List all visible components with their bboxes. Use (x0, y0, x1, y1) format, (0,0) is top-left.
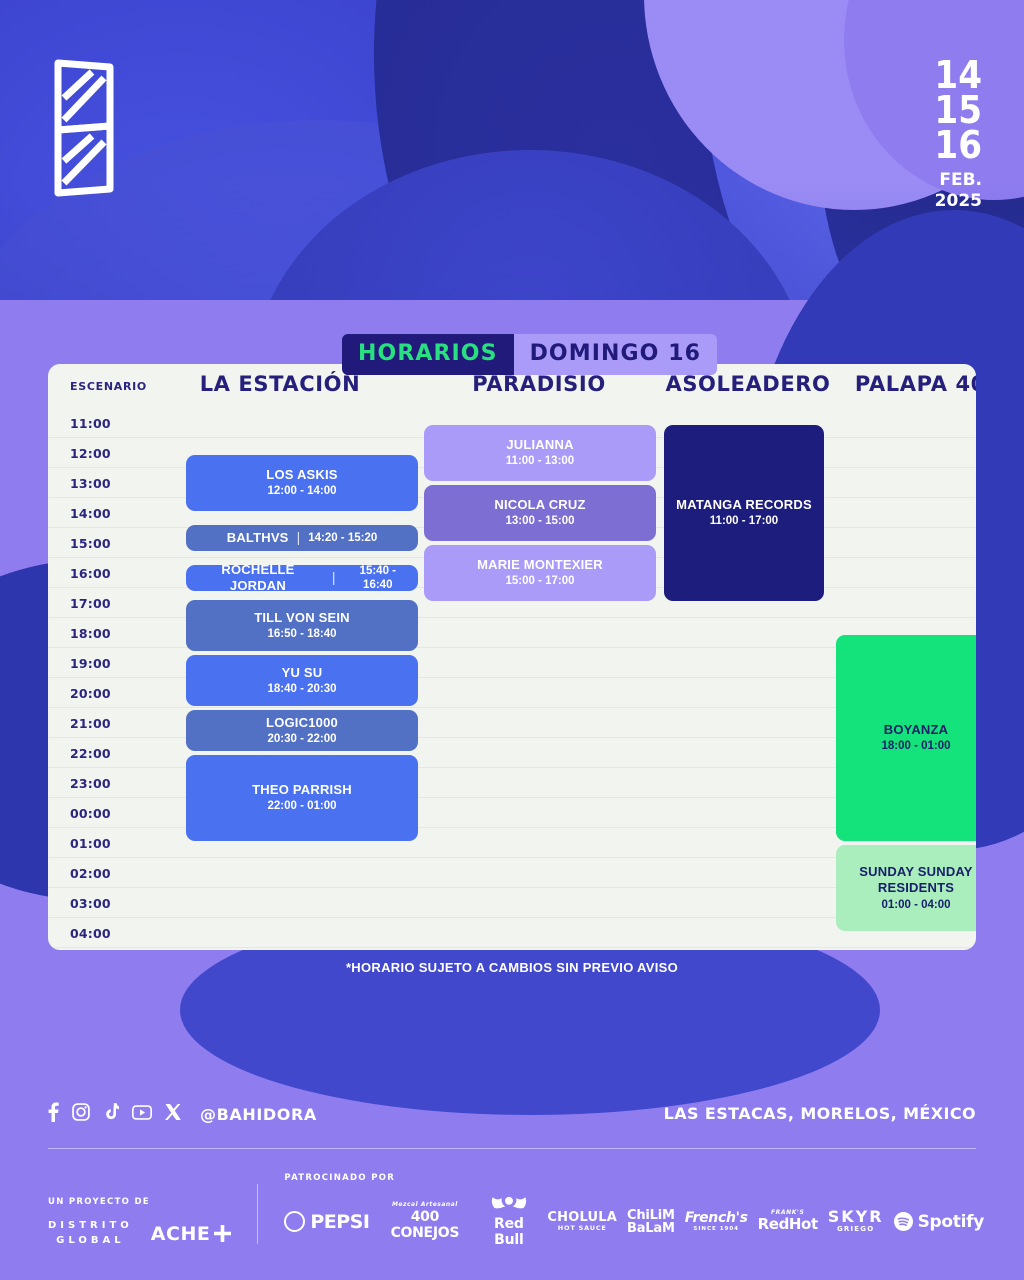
artist-time: 15:00 - 17:00 (505, 574, 574, 588)
date-year: 2025 (934, 191, 982, 211)
schedule-block[interactable]: JULIANNA11:00 - 13:00 (424, 425, 656, 481)
artist-name: ROCHELLE JORDAN (192, 562, 324, 595)
footer: @BAHIDORA LAS ESTACAS, MORELOS, MÉXICO U… (0, 1080, 1024, 1280)
artist-time: 16:50 - 18:40 (267, 627, 336, 641)
distrito-line1: DISTRITO (48, 1219, 133, 1234)
stage-header-palapa-400: PALAPA 400 (838, 372, 976, 396)
time-label: 21:00 (70, 716, 111, 731)
festival-location: LAS ESTACAS, MORELOS, MÉXICO (664, 1104, 976, 1123)
ache-text: ACHE (151, 1223, 211, 1245)
separator: | (332, 569, 336, 587)
time-label: 18:00 (70, 626, 111, 641)
festival-lineup-poster: 14 15 16 FEB. 2025 HORARIOS DOMINGO 16 E… (0, 0, 1024, 1280)
escenario-column-label: ESCENARIO (70, 380, 147, 393)
chilim-line1: ChiLiM (627, 1209, 675, 1222)
conejos-small: Mezcal Artesanal (379, 1202, 470, 1209)
time-label: 16:00 (70, 566, 111, 581)
time-label: 12:00 (70, 446, 111, 461)
project-sponsors-group: UN PROYECTO DE DISTRITO GLOBAL ACHE (48, 1197, 231, 1248)
artist-name: JULIANNA (506, 437, 573, 453)
schedule-block[interactable]: NICOLA CRUZ13:00 - 15:00 (424, 485, 656, 541)
logo-pepsi[interactable]: PEPSI (284, 1211, 369, 1233)
schedule-block[interactable]: THEO PARRISH22:00 - 01:00 (186, 755, 418, 841)
time-label: 23:00 (70, 776, 111, 791)
logo-red-bull[interactable]: Red Bull (480, 1195, 537, 1248)
logo-400-conejos[interactable]: Mezcal Artesanal 400 CONEJOS (379, 1202, 470, 1241)
chilim-line2: BaLaM (627, 1222, 675, 1235)
sponsor-logos: PEPSI Mezcal Artesanal 400 CONEJOS Red B… (284, 1195, 984, 1248)
time-label: 14:00 (70, 506, 111, 521)
schedule-card: ESCENARIO LA ESTACIÓN PARADISIO ASOLEADE… (48, 364, 976, 950)
schedule-block[interactable]: MARIE MONTEXIER15:00 - 17:00 (424, 545, 656, 601)
artist-name: LOS ASKIS (266, 467, 337, 483)
project-label: UN PROYECTO DE (48, 1197, 231, 1207)
artist-name: NICOLA CRUZ (494, 497, 585, 513)
horarios-label: HORARIOS (342, 334, 514, 375)
sponsor-label: PATROCINADO POR (284, 1173, 984, 1183)
schedule-block[interactable]: TILL VON SEIN16:50 - 18:40 (186, 600, 418, 651)
artist-name: MARIE MONTEXIER (477, 557, 603, 573)
artist-time: 11:00 - 17:00 (710, 514, 778, 528)
time-label: 03:00 (70, 896, 111, 911)
artist-time: 22:00 - 01:00 (267, 799, 336, 813)
x-twitter-icon[interactable] (165, 1104, 181, 1125)
festival-dates: 14 15 16 FEB. 2025 (934, 58, 982, 212)
artist-time: 01:00 - 04:00 (881, 898, 950, 912)
stage-header-la-estacion: LA ESTACIÓN (140, 372, 420, 396)
stage-header-paradisio: PARADISIO (423, 372, 655, 396)
date-day-3: 16 (934, 128, 982, 163)
project-logos: DISTRITO GLOBAL ACHE (48, 1219, 231, 1248)
logo-chilim-balam[interactable]: ChiLiM BaLaM (627, 1209, 675, 1235)
conejos-text: 400 CONEJOS (391, 1209, 460, 1241)
schedule-title-pills: HORARIOS DOMINGO 16 (342, 334, 717, 375)
logo-skyr-griego[interactable]: SKYR GRIEGO (828, 1209, 884, 1233)
logo-cholula[interactable]: CHOLULA HOT SAUCE (547, 1211, 617, 1232)
time-label: 00:00 (70, 806, 111, 821)
pepsi-globe-icon (284, 1211, 305, 1232)
artist-name: YU SU (282, 665, 323, 681)
social-links: @BAHIDORA (48, 1102, 317, 1127)
stage-header-asoleadero: ASOLEADERO (658, 372, 838, 396)
logo-spotify[interactable]: Spotify (894, 1212, 984, 1232)
time-label: 20:00 (70, 686, 111, 701)
red-bull-bulls-icon (491, 1195, 527, 1212)
cholula-small: HOT SAUCE (547, 1225, 617, 1232)
redhot-text: RedHot (758, 1217, 818, 1233)
artist-name: BOYANZA (884, 722, 948, 738)
schedule-block[interactable]: YU SU18:40 - 20:30 (186, 655, 418, 706)
schedule-block[interactable]: LOGIC100020:30 - 22:00 (186, 710, 418, 751)
artist-name: THEO PARRISH (252, 782, 352, 798)
time-label: 11:00 (70, 416, 111, 431)
spotify-icon (894, 1212, 913, 1231)
skyr-text: SKYR (828, 1209, 884, 1226)
artist-name: SUNDAY SUNDAY RESIDENTS (842, 864, 976, 897)
time-label: 19:00 (70, 656, 111, 671)
frenchs-small: SINCE 1904 (685, 1226, 748, 1232)
time-label: 15:00 (70, 536, 111, 551)
artist-time: 14:20 - 15:20 (308, 531, 377, 545)
time-label: 13:00 (70, 476, 111, 491)
facebook-icon[interactable] (48, 1102, 59, 1127)
schedule-disclaimer: *HORARIO SUJETO A CAMBIOS SIN PREVIO AVI… (0, 960, 1024, 975)
skyr-small: GRIEGO (828, 1226, 884, 1233)
artist-time: 12:00 - 14:00 (267, 484, 336, 498)
spotify-text: Spotify (918, 1212, 984, 1232)
frenchs-text: French's (685, 1211, 748, 1226)
logo-ache[interactable]: ACHE (151, 1223, 232, 1245)
separator: | (297, 529, 301, 547)
schedule-block[interactable]: BOYANZA18:00 - 01:00 (836, 635, 976, 841)
ache-plus-mark (214, 1225, 231, 1242)
artist-name: BALTHVS (227, 530, 289, 546)
time-label: 01:00 (70, 836, 111, 851)
schedule-block[interactable]: BALTHVS|14:20 - 15:20 (186, 525, 418, 551)
brand-sponsors-group: PATROCINADO POR PEPSI Mezcal Artesanal 4… (284, 1173, 984, 1248)
instagram-icon[interactable] (72, 1103, 90, 1126)
logo-distrito-global[interactable]: DISTRITO GLOBAL (48, 1219, 133, 1248)
youtube-icon[interactable] (132, 1105, 152, 1125)
artist-name: MATANGA RECORDS (676, 497, 812, 513)
artist-time: 11:00 - 13:00 (506, 454, 574, 468)
schedule-block[interactable]: SUNDAY SUNDAY RESIDENTS01:00 - 04:00 (836, 845, 976, 931)
logo-franks-redhot[interactable]: FRANK'S RedHot (758, 1210, 818, 1232)
distrito-line2: GLOBAL (48, 1234, 133, 1249)
artist-name: TILL VON SEIN (254, 610, 350, 626)
time-label: 02:00 (70, 866, 111, 881)
day-selector-domingo[interactable]: DOMINGO 16 (514, 334, 718, 375)
sponsors-row: UN PROYECTO DE DISTRITO GLOBAL ACHE PATR… (48, 1162, 984, 1248)
redbull-text: Red Bull (480, 1216, 537, 1248)
artist-time: 18:40 - 20:30 (267, 682, 336, 696)
artist-time: 13:00 - 15:00 (505, 514, 574, 528)
schedule-block[interactable]: MATANGA RECORDS11:00 - 17:00 (664, 425, 824, 601)
schedule-block[interactable]: ROCHELLE JORDAN|15:40 - 16:40 (186, 565, 418, 591)
schedule-block[interactable]: LOS ASKIS12:00 - 14:00 (186, 455, 418, 511)
time-label: 04:00 (70, 926, 111, 941)
time-label: 17:00 (70, 596, 111, 611)
date-month: FEB. (934, 170, 982, 191)
artist-time: 18:00 - 01:00 (881, 739, 950, 753)
pepsi-text: PEPSI (310, 1211, 369, 1233)
artist-time: 15:40 - 16:40 (344, 564, 412, 593)
cholula-text: CHOLULA (547, 1211, 617, 1225)
social-handle[interactable]: @BAHIDORA (200, 1105, 317, 1124)
footer-divider (48, 1148, 976, 1149)
artist-time: 20:30 - 22:00 (267, 732, 336, 746)
sponsor-divider (257, 1184, 258, 1244)
schedule-grid: 11:0012:0013:0014:0015:0016:0017:0018:00… (48, 408, 976, 950)
bahidora-b-logo (52, 58, 116, 198)
time-label: 22:00 (70, 746, 111, 761)
artist-name: LOGIC1000 (266, 715, 338, 731)
logo-frenchs[interactable]: French's SINCE 1904 (685, 1211, 748, 1232)
tiktok-icon[interactable] (103, 1103, 119, 1127)
